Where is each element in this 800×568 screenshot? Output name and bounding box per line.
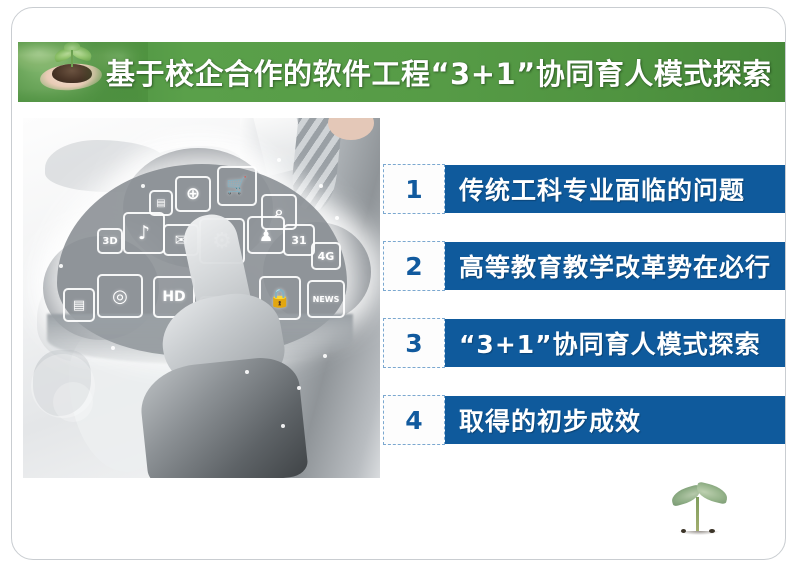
list-item-number: 4 [383, 395, 445, 445]
list-item-label: 传统工科专业面临的问题 [445, 171, 745, 207]
cloud-technology-photo: ▤ ⊕ 🛒 ⌕ 3D ♪ ✉ ⚙ ♟ 31 4G ▤ ◎ HD ≋ ▧ 🔒 NE… [23, 118, 380, 478]
contact-icon: ♟ [247, 216, 285, 254]
list-item-label: “3+1”协同育人模式探索 [445, 325, 761, 361]
chat-icon: ▤ [63, 288, 95, 322]
sprout-icon [663, 479, 733, 535]
list-item-number: 3 [383, 318, 445, 368]
list-item-label: 高等教育教学改革势在必行 [445, 248, 771, 284]
list-item-bar[interactable]: 取得的初步成效 [445, 396, 786, 444]
list-item-bar[interactable]: 高等教育教学改革势在必行 [445, 242, 786, 290]
globe-icon: ⊕ [175, 176, 211, 212]
list-item[interactable]: 4 取得的初步成效 [383, 395, 786, 445]
threed-icon: 3D [97, 228, 123, 254]
camera-icon: ◎ [97, 274, 143, 318]
music-note-icon: ♪ [123, 212, 165, 254]
list-item[interactable]: 3 “3+1”协同育人模式探索 [383, 318, 786, 368]
list-item-bar[interactable]: “3+1”协同育人模式探索 [445, 319, 786, 367]
title-banner: 基于校企合作的软件工程“3+1”协同育人模式探索 [18, 42, 786, 102]
list-item[interactable]: 1 传统工科专业面临的问题 [383, 164, 786, 214]
news-icon: NEWS [307, 280, 345, 318]
network-4g-icon: 4G [311, 242, 341, 270]
page-title: 基于校企合作的软件工程“3+1”协同育人模式探索 [106, 42, 782, 102]
list-item-label: 取得的初步成效 [445, 402, 641, 438]
slide-canvas: 基于校企合作的软件工程“3+1”协同育人模式探索 ▤ ⊕ 🛒 ⌕ 3D ♪ ✉ … [11, 7, 786, 560]
list-item-bar[interactable]: 传统工科专业面临的问题 [445, 165, 786, 213]
list-item-number: 2 [383, 241, 445, 291]
shopping-cart-icon: 🛒 [217, 166, 257, 206]
list-item-number: 1 [383, 164, 445, 214]
list-item[interactable]: 2 高等教育教学改革势在必行 [383, 241, 786, 291]
agenda-list: 1 传统工科专业面临的问题 2 高等教育教学改革势在必行 3 “3+1”协同育人… [383, 164, 786, 464]
